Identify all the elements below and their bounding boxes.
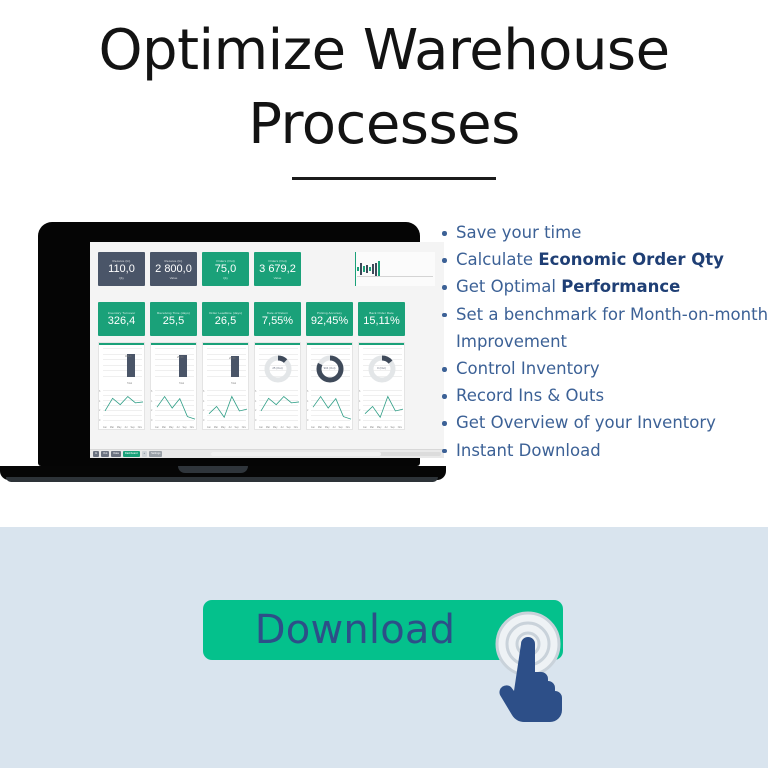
kpi-card: Order Leadtime (days)26,5 — [202, 302, 249, 336]
benefits-list: Save your timeCalculate Economic Order Q… — [434, 219, 768, 464]
tile-accent-bar — [307, 343, 352, 345]
kpi-subcaption: Value — [170, 276, 178, 280]
kpi-caption: Orders (Out) — [216, 259, 235, 263]
kpi-value: 7,55% — [262, 315, 293, 328]
benefit-highlight: Economic Order Qty — [538, 250, 724, 269]
benefit-item: Calculate Economic Order Qty — [434, 246, 768, 273]
bar-value-label: 25,50 — [177, 356, 184, 359]
mini-bar — [369, 267, 371, 271]
tile-bar-chart: 25,50Total — [151, 346, 196, 386]
x-axis-labels: JanMarMayJulSepNov — [155, 426, 194, 429]
benefit-item: Control Inventory — [434, 355, 768, 382]
benefit-item: Get Optimal Performance — [434, 273, 768, 300]
y-axis-labels: 6420 — [203, 390, 204, 422]
tile-accent-bar — [359, 343, 404, 345]
laptop-screen: Receive (In)110,0QtyReceive (In)2 800,0V… — [90, 242, 444, 458]
laptop-base-shadow — [6, 477, 438, 482]
kpi-subcaption: Value — [274, 276, 282, 280]
tile-donut-chart: 25 (Out) — [255, 346, 300, 386]
y-axis-labels: 6420 — [255, 390, 256, 422]
benefit-item: Get Overview of your Inventory — [434, 409, 768, 436]
line-series — [99, 388, 145, 430]
kpi-card: Inventory Turnover326,4 — [98, 302, 145, 336]
kpi-value: 110,0 — [108, 263, 135, 276]
line-series — [307, 388, 353, 430]
page-title-line-2: Processes — [0, 88, 768, 162]
benefit-item: Save your time — [434, 219, 768, 246]
mini-bar — [372, 264, 374, 273]
tile-line-chart: 6420JanMarMayJulSepNov — [203, 388, 248, 430]
kpi-subcaption: Qty — [223, 276, 228, 280]
line-series — [203, 388, 249, 430]
kpi-caption: Inventory Turnover — [108, 311, 136, 315]
x-axis-labels: Total — [155, 382, 194, 385]
kpi-card: Picking Accuracy92,45% — [306, 302, 353, 336]
mini-bar-axis-horizontal — [357, 276, 433, 277]
chart-tile-row: 326,4Total6420JanMarMayJulSepNov25,50Tot… — [98, 342, 405, 430]
benefit-highlight: Performance — [561, 277, 680, 296]
kpi-card: Receive (In)110,0Qty — [98, 252, 145, 286]
kpi-card: Back Order Rate15,11% — [358, 302, 405, 336]
dashboard: Receive (In)110,0QtyReceive (In)2 800,0V… — [90, 242, 444, 458]
grid — [155, 348, 194, 378]
download-button-label: Download — [255, 610, 455, 650]
donut-label: 25 (Out) — [272, 366, 282, 370]
kpi-caption: Orders (Out) — [268, 259, 287, 263]
title-divider — [292, 177, 496, 180]
tile-line-chart: 6420JanMarMayJulSepNov — [99, 388, 144, 430]
tile-accent-bar — [99, 343, 144, 345]
tile-line-chart: 6420JanMarMayJulSepNov — [151, 388, 196, 430]
sheet-tab[interactable]: Out — [101, 451, 109, 457]
benefit-item: Instant Download — [434, 437, 768, 464]
y-axis-labels: 6420 — [307, 390, 308, 422]
kpi-value: 326,4 — [108, 315, 136, 328]
kpi-caption: Order Leadtime (days) — [209, 311, 242, 315]
donut-label: 904 (Out) — [324, 366, 336, 370]
tile-donut-chart: 0 (Out) — [359, 346, 404, 386]
chart-tile: 26,50Total6420JanMarMayJulSepNov — [202, 342, 249, 430]
chart-tile: 326,4Total6420JanMarMayJulSepNov — [98, 342, 145, 430]
x-axis-labels: Total — [207, 382, 246, 385]
sheet-tab[interactable]: + — [142, 451, 148, 457]
cta-band: Download — [0, 527, 768, 768]
benefit-item: Set a benchmark for Month-on-month Impro… — [434, 301, 768, 355]
kpi-value: 3 679,2 — [259, 263, 296, 276]
kpi-value: 26,5 — [215, 315, 236, 328]
kpi-card: Orders (Out)75,0Qty — [202, 252, 249, 286]
donut-label: 0 (Out) — [377, 366, 386, 370]
tile-line-chart: 6420JanMarMayJulSepNov — [255, 388, 300, 430]
chart-tile: 25,50Total6420JanMarMayJulSepNov — [150, 342, 197, 430]
mini-bar — [366, 265, 368, 273]
mini-bar-axis-vertical — [355, 252, 356, 286]
chart-tile: 25 (Out)6420JanMarMayJulSepNov — [254, 342, 301, 430]
laptop-notch — [178, 466, 248, 473]
mini-bar — [363, 266, 365, 271]
sheet-tab[interactable]: In — [93, 451, 99, 457]
tile-accent-bar — [255, 343, 300, 345]
kpi-caption: Receive (In) — [165, 259, 183, 263]
sheet-tab-bar[interactable]: InOutDataDashboard+Settings — [90, 449, 444, 458]
bar-value-label: 26,50 — [229, 357, 236, 360]
kpi-value: 2 800,0 — [155, 263, 192, 276]
horizontal-scrollbar[interactable] — [211, 452, 441, 456]
grid — [207, 348, 246, 378]
sheet-tab[interactable]: Settings — [149, 451, 162, 457]
line-series — [359, 388, 405, 430]
benefit-item: Record Ins & Outs — [434, 382, 768, 409]
chart-tile: 0 (Out)6420JanMarMayJulSepNov — [358, 342, 405, 430]
tile-donut-chart: 904 (Out) — [307, 346, 352, 386]
kpi-subcaption: Qty — [119, 276, 124, 280]
x-axis-labels: JanMarMayJulSepNov — [311, 426, 350, 429]
tile-line-chart: 6420JanMarMayJulSepNov — [307, 388, 352, 430]
mini-bar-chart — [355, 252, 435, 286]
mini-bar — [375, 263, 377, 276]
tile-line-chart: 6420JanMarMayJulSepNov — [359, 388, 404, 430]
kpi-row-primary: Receive (In)110,0QtyReceive (In)2 800,0V… — [98, 252, 301, 286]
y-axis-labels: 6420 — [151, 390, 152, 422]
kpi-caption: Receive (In) — [113, 259, 131, 263]
y-axis-labels: 6420 — [359, 390, 360, 422]
click-hand-cursor-icon — [487, 611, 569, 723]
kpi-value: 75,0 — [215, 263, 236, 276]
mini-bar — [357, 267, 359, 271]
tile-bar-chart: 26,50Total — [203, 346, 248, 386]
benefits-items: Save your timeCalculate Economic Order Q… — [434, 219, 768, 464]
kpi-value: 25,5 — [163, 315, 184, 328]
page-title: Optimize Warehouse Processes — [0, 14, 768, 162]
kpi-value: 15,11% — [363, 315, 400, 328]
x-axis-labels: JanMarMayJulSepNov — [103, 426, 142, 429]
tile-bar-chart: 326,4Total — [99, 346, 144, 386]
kpi-caption: Rate of Return — [267, 311, 289, 315]
laptop-mockup: Receive (In)110,0QtyReceive (In)2 800,0V… — [0, 218, 450, 480]
line-series — [255, 388, 301, 430]
kpi-row-secondary: Inventory Turnover326,4Receiving Time (d… — [98, 302, 405, 336]
mini-bar — [378, 261, 380, 278]
kpi-caption: Receiving Time (days) — [157, 311, 190, 315]
x-axis-labels: JanMarMayJulSepNov — [363, 426, 402, 429]
kpi-card: Orders (Out)3 679,2Value — [254, 252, 301, 286]
kpi-caption: Picking Accuracy — [317, 311, 342, 315]
chart-tile: 904 (Out)6420JanMarMayJulSepNov — [306, 342, 353, 430]
kpi-value: 92,45% — [311, 315, 348, 328]
tile-accent-bar — [203, 343, 248, 345]
line-series — [151, 388, 197, 430]
tile-accent-bar — [151, 343, 196, 345]
kpi-card: Rate of Return7,55% — [254, 302, 301, 336]
x-axis-labels: JanMarMayJulSepNov — [207, 426, 246, 429]
laptop-lid: Receive (In)110,0QtyReceive (In)2 800,0V… — [38, 222, 420, 466]
y-axis-labels: 6420 — [99, 390, 100, 422]
sheet-tab[interactable]: Data — [111, 451, 120, 457]
kpi-card: Receive (In)2 800,0Value — [150, 252, 197, 286]
x-axis-labels: JanMarMayJulSepNov — [259, 426, 298, 429]
page-title-line-1: Optimize Warehouse — [0, 14, 768, 88]
kpi-card: Receiving Time (days)25,5 — [150, 302, 197, 336]
mini-bar — [360, 263, 362, 275]
sheet-tab[interactable]: Dashboard — [123, 451, 140, 457]
grid — [103, 348, 142, 378]
kpi-caption: Back Order Rate — [369, 311, 394, 315]
bar-value-label: 326,4 — [125, 355, 132, 358]
x-axis-labels: Total — [103, 382, 142, 385]
